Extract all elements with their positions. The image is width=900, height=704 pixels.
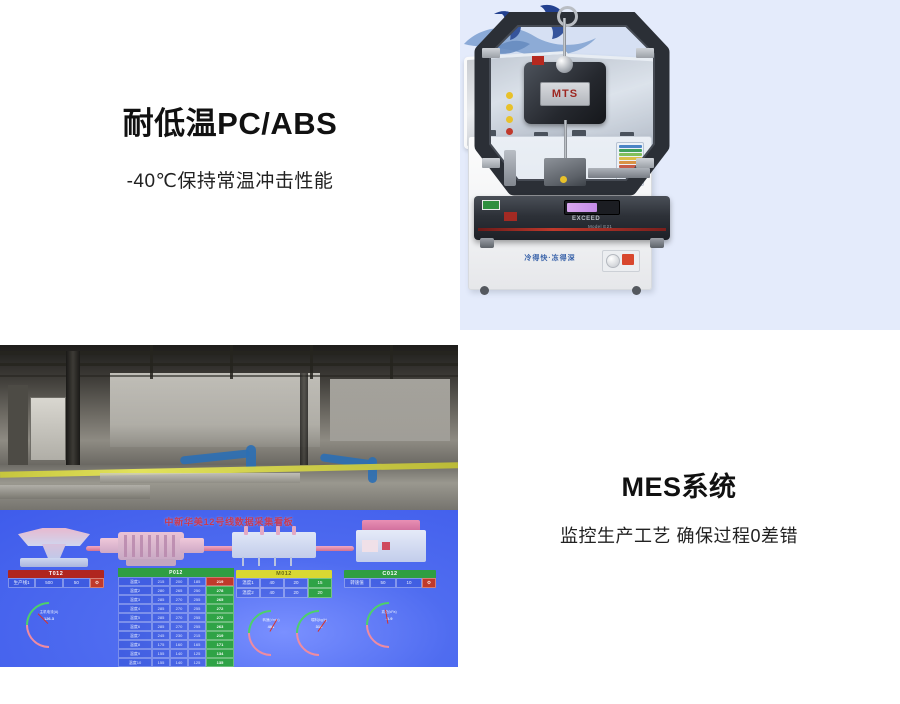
panel-t012-header: T012 xyxy=(8,570,104,578)
mts-brand-text: MTS xyxy=(552,88,578,100)
panel-c012-settings-icon[interactable]: ⚙ xyxy=(422,578,436,588)
base-green-label xyxy=(482,200,500,210)
table-cell: 温度1 xyxy=(118,577,152,586)
page-title-mes: MES系统 xyxy=(458,465,900,504)
panel-mid[interactable]: M012 温度1 40 20 15 温度2 40 20 20 xyxy=(236,570,332,598)
tester-foot xyxy=(480,238,494,248)
base-red-label xyxy=(504,212,517,221)
roof-truss xyxy=(310,345,313,379)
table-cell: 270 xyxy=(170,613,188,622)
table-cell-actual: 135 xyxy=(206,658,234,667)
tester-foot xyxy=(650,238,664,248)
table-cell: 155 xyxy=(152,649,170,658)
table-cell: 215 xyxy=(188,631,206,640)
gauge-c012: 真空(kPa) -0.9 xyxy=(366,602,412,630)
dashboard-data-table[interactable]: P012 温度1215200185219温度2280265250278温度328… xyxy=(118,568,234,667)
panel-mid-cell: 40 xyxy=(260,588,284,598)
support-post xyxy=(504,150,516,186)
panel-t012-settings-icon[interactable]: ⚙ xyxy=(90,578,104,588)
control-cabinet xyxy=(8,385,28,465)
panel-mid-cell: 20 xyxy=(284,578,308,588)
table-cell: 温度8 xyxy=(118,640,152,649)
table-cell-actual: 265 xyxy=(206,595,234,604)
roof-truss xyxy=(150,345,153,379)
freezer-caster xyxy=(632,286,641,295)
table-cell: 125 xyxy=(188,649,206,658)
steel-column xyxy=(300,373,308,465)
table-cell-actual: 278 xyxy=(206,586,234,595)
panel-mid-cell: 温度2 xyxy=(236,588,260,598)
warning-icon xyxy=(506,92,513,99)
table-cell: 温度9 xyxy=(118,649,152,658)
hammer-weight xyxy=(556,56,573,73)
table-row: 温度5285270255272 xyxy=(118,613,234,622)
hopper-base xyxy=(20,558,88,567)
panel-c012-header: C012 xyxy=(344,570,436,578)
roof-truss xyxy=(390,345,393,379)
machine-hopper xyxy=(18,528,90,564)
panel-t012-cell: 500 xyxy=(35,578,62,588)
table-cell: 温度7 xyxy=(118,631,152,640)
table-row: 温度6285270255263 xyxy=(118,622,234,631)
panel-c012-cell: 10 xyxy=(396,578,422,588)
table-row: 温度3285270255265 xyxy=(118,595,234,604)
table-cell-actual: 219 xyxy=(206,577,234,586)
roof-truss xyxy=(230,345,233,379)
table-cell-actual: 272 xyxy=(206,613,234,622)
table-cell: 165 xyxy=(188,640,206,649)
table-row: 温度7245230215219 xyxy=(118,631,234,640)
panel-mid-cell-ok: 15 xyxy=(308,578,332,588)
table-cell: 温度4 xyxy=(118,604,152,613)
table-cell: 245 xyxy=(152,631,170,640)
blue-pipe xyxy=(180,449,250,464)
extruder-barrel xyxy=(118,532,184,560)
table-cell: 255 xyxy=(188,622,206,631)
table-cell: 270 xyxy=(170,604,188,613)
panel-t012[interactable]: T012 生产线1 500 50 ⚙ xyxy=(8,570,104,588)
machine-cooling-tank xyxy=(232,532,316,566)
warning-icon xyxy=(560,176,567,183)
steel-column xyxy=(66,351,80,467)
table-cell: 285 xyxy=(152,595,170,604)
base-accent-line xyxy=(478,228,666,231)
gauge-mid-2-label: 喂料(kg/h) xyxy=(296,618,342,623)
table-cell: 155 xyxy=(152,658,170,667)
panel-mid-header: M012 xyxy=(236,570,332,578)
freezer-caster xyxy=(480,286,489,295)
frame-bracket xyxy=(482,158,500,168)
freezer-knob xyxy=(606,254,620,268)
table-cell: 185 xyxy=(188,577,206,586)
table-cell: 140 xyxy=(170,649,188,658)
specimen-rail xyxy=(588,168,650,178)
page-subtitle-low-temp: -40℃保持常温冲击性能 xyxy=(0,166,460,193)
gauge-c012-value: -0.9 xyxy=(366,616,412,621)
frame-bracket xyxy=(636,158,654,168)
panel-mid-cell: 40 xyxy=(260,578,284,588)
conveyor-rail xyxy=(100,473,300,483)
panel-c012-cell: 50 xyxy=(370,578,396,588)
warning-icon xyxy=(506,104,513,111)
tester-display xyxy=(564,200,620,215)
table-cell-actual: 134 xyxy=(206,649,234,658)
table-cell: 175 xyxy=(152,640,170,649)
factory-window xyxy=(330,379,450,441)
pelletizer-indicator xyxy=(382,542,390,550)
machine-extruder xyxy=(100,532,204,568)
gauge-mid-2: 喂料(kg/h) 318 xyxy=(296,610,342,638)
machine-pelletizer xyxy=(352,520,430,568)
table-row: 温度4285270255272 xyxy=(118,604,234,613)
table-row: 温度1215200185219 xyxy=(118,577,234,586)
control-panel xyxy=(30,397,66,461)
table-cell: 255 xyxy=(188,604,206,613)
hammer-indicator xyxy=(532,56,544,65)
extruder-outlet xyxy=(180,538,204,553)
data-table-header: P012 xyxy=(118,568,234,577)
gauge-mid-1-label: 转速(r/min) xyxy=(248,618,294,623)
table-cell: 255 xyxy=(188,595,206,604)
panel-mid-cell: 20 xyxy=(284,588,308,598)
panel-c012[interactable]: C012 转速值 50 10 ⚙ xyxy=(344,570,436,588)
tester-base-brand: EXCEED xyxy=(572,216,652,222)
table-cell: 140 xyxy=(170,658,188,667)
pelletizer-window xyxy=(362,540,378,552)
extruder-frame xyxy=(126,559,176,566)
gauge-c012-label: 真空(kPa) xyxy=(366,610,412,615)
page-title-low-temp: 耐低温PC/ABS xyxy=(0,98,460,143)
table-cell: 温度6 xyxy=(118,622,152,631)
table-cell: 温度5 xyxy=(118,613,152,622)
table-cell: 200 xyxy=(170,577,188,586)
mts-logo-plate: MTS xyxy=(540,82,590,106)
gauge-t012: 主机电流(A) 126.3 xyxy=(26,602,72,630)
table-cell: 270 xyxy=(170,595,188,604)
table-row: 温度9155140125134 xyxy=(118,649,234,658)
table-cell-actual: 219 xyxy=(206,631,234,640)
table-cell: 285 xyxy=(152,622,170,631)
lifting-eye-icon xyxy=(557,6,578,27)
hopper-funnel xyxy=(18,528,90,546)
gauge-t012-value: 126.3 xyxy=(26,616,72,621)
table-row: 温度2280265250278 xyxy=(118,586,234,595)
table-cell: 280 xyxy=(152,586,170,595)
table-cell: 270 xyxy=(170,622,188,631)
table-cell: 255 xyxy=(188,613,206,622)
table-row: 温度10155140125135 xyxy=(118,658,234,667)
panel-c012-cell: 转速值 xyxy=(344,578,370,588)
striker-rod xyxy=(564,120,567,162)
factory-window xyxy=(110,373,320,447)
table-cell: 160 xyxy=(170,640,188,649)
cooling-tank-body xyxy=(232,532,316,558)
table-cell: 230 xyxy=(170,631,188,640)
frame-bracket xyxy=(482,48,500,58)
mes-factory-photo: 中新华美12号线数据采集看板 xyxy=(0,345,458,667)
table-cell: 温度3 xyxy=(118,595,152,604)
page-subtitle-mes: 监控生产工艺 确保过程0差错 xyxy=(458,522,900,548)
warning-icon xyxy=(506,116,513,123)
conveyor-rail xyxy=(0,485,150,499)
low-temp-text-block: 耐低温PC/ABS -40℃保持常温冲击性能 xyxy=(0,0,460,330)
low-temp-test-photo: 中新华美 冷得快·冻得深 xyxy=(460,0,900,330)
panel-mid-cell-ok: 20 xyxy=(308,588,332,598)
table-cell: 温度2 xyxy=(118,586,152,595)
table-cell-actual: 272 xyxy=(206,604,234,613)
freezer-slogan: 冷得快·冻得深 xyxy=(490,253,610,263)
table-cell: 285 xyxy=(152,604,170,613)
table-cell: 215 xyxy=(152,577,170,586)
gauge-mid-1: 转速(r/min) 401 xyxy=(248,610,294,638)
panel-t012-cell: 生产线1 xyxy=(8,578,35,588)
table-cell: 285 xyxy=(152,613,170,622)
factory-interior-photo xyxy=(0,345,458,510)
panel-t012-cell: 50 xyxy=(63,578,90,588)
table-cell-actual: 263 xyxy=(206,622,234,631)
table-cell-actual: 171 xyxy=(206,640,234,649)
table-cell: 250 xyxy=(188,586,206,595)
panel-mid-cell: 温度1 xyxy=(236,578,260,588)
table-row: 温度8175160165171 xyxy=(118,640,234,649)
table-cell: 265 xyxy=(170,586,188,595)
gauge-t012-label: 主机电流(A) xyxy=(26,610,72,615)
freezer-display xyxy=(622,254,634,265)
mes-text-block: MES系统 监控生产工艺 确保过程0差错 xyxy=(458,345,900,667)
display-glow xyxy=(567,203,597,212)
table-cell: 125 xyxy=(188,658,206,667)
warning-icon xyxy=(506,128,513,135)
mes-dashboard-screen: 中新华美12号线数据采集看板 xyxy=(0,510,458,667)
table-cell: 温度10 xyxy=(118,658,152,667)
frame-bracket xyxy=(636,48,654,58)
